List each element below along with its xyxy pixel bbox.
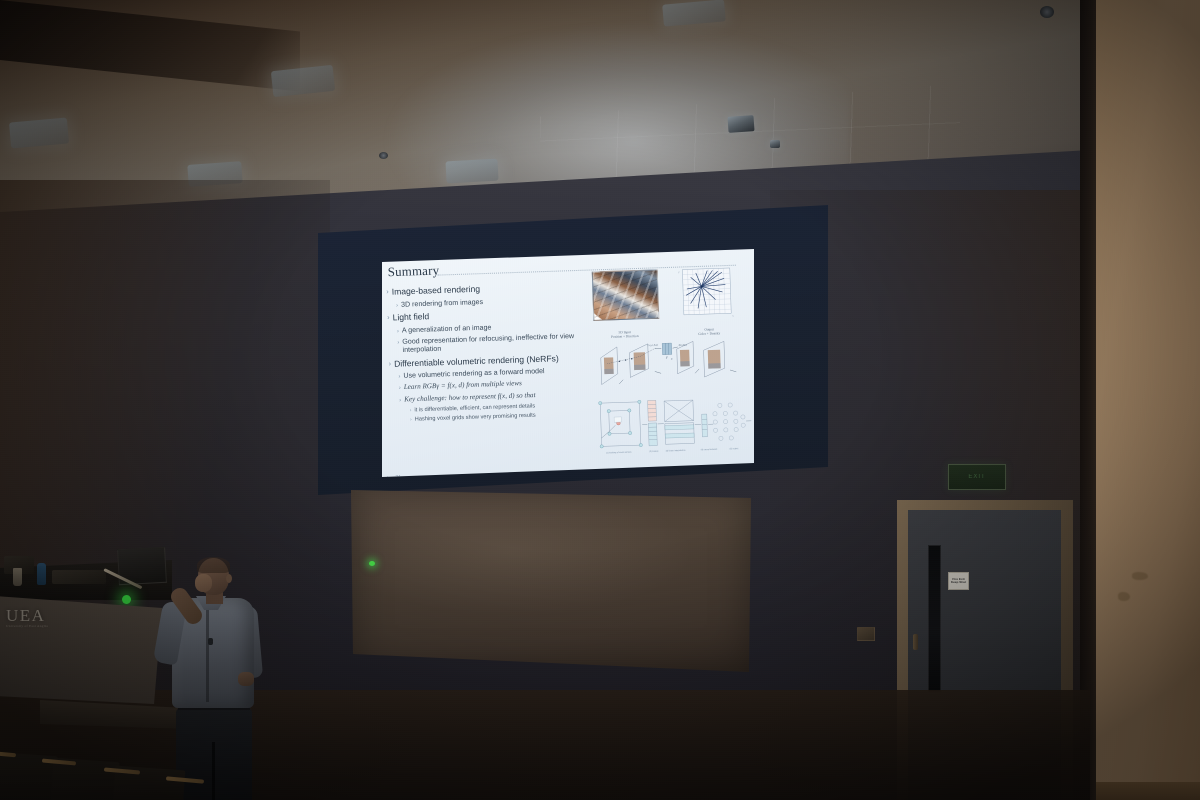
presenter-left-hand <box>195 574 212 592</box>
wall-scuff-2 <box>1118 592 1130 601</box>
bullet-text: Good representation for refocusing, inef… <box>402 332 594 355</box>
presenter-ear <box>226 574 232 583</box>
wall-scuff-1 <box>1132 572 1148 580</box>
instant-ngp-hash-encoding-diagram: (1) hashing of voxel vertices (2) lookup… <box>592 392 754 461</box>
door-sign-line-2: Keep Shut <box>951 581 966 584</box>
bullet-marker-icon: › <box>397 339 399 348</box>
right-wall-pillar <box>1096 0 1200 800</box>
light-field-epipolar-image <box>592 269 660 321</box>
water-bottle <box>37 563 46 585</box>
bullet-marker-icon: › <box>399 396 401 405</box>
bullet-marker-icon: › <box>386 288 389 299</box>
wall-light-switch[interactable] <box>857 627 875 641</box>
svg-text:(4) neural network: (4) neural network <box>701 448 719 452</box>
audience-seating <box>0 744 220 800</box>
bullet-text: Light field <box>392 312 429 323</box>
door-notice-sign: Fire Exit Keep Shut <box>948 572 969 590</box>
door-vision-panel <box>928 545 941 692</box>
bullet-marker-icon: › <box>410 407 412 414</box>
uea-logo-text: UEA <box>6 606 45 625</box>
svg-text:Θ: Θ <box>671 359 673 361</box>
recessed-light-1 <box>9 118 69 149</box>
bullet-item: › Good representation for refocusing, in… <box>397 332 594 355</box>
svg-text:(5) output: (5) output <box>730 447 739 450</box>
bullet-marker-icon: › <box>387 314 390 325</box>
presenter-hair <box>197 557 230 573</box>
bullet-text: Use volumetric rendering as a forward mo… <box>403 368 544 381</box>
bullet-marker-icon: › <box>389 359 392 370</box>
lecture-hall-photo: Summary › Image-based rendering › 3D ren… <box>0 0 1200 800</box>
presenter-shirt-placket <box>206 610 209 702</box>
slide-bullet-list: › Image-based rendering › 3D rendering f… <box>386 278 597 424</box>
ceiling-speaker-right <box>770 140 780 148</box>
svg-text:(RGBσ): (RGBσ) <box>679 344 687 347</box>
av-control-box[interactable] <box>52 570 106 584</box>
door-handle[interactable] <box>913 634 918 650</box>
ceiling-downlight <box>1040 6 1054 18</box>
nerf-pipeline-diagram: 5D Input Position + Direction Output Col… <box>589 322 754 391</box>
svg-text:(x,y,z,θ,φ): (x,y,z,θ,φ) <box>648 344 658 347</box>
emergency-exit-sign: EXIT <box>948 464 1006 490</box>
svg-text:Position + Direction: Position + Direction <box>611 334 639 339</box>
slide-title: Summary <box>387 263 439 280</box>
bullet-marker-icon: › <box>397 327 399 336</box>
lower-whiteboard-panel <box>351 484 751 672</box>
bullet-marker-icon: › <box>410 416 412 423</box>
ceiling-projector <box>727 115 754 133</box>
bullet-marker-icon: › <box>399 384 401 393</box>
uea-logo-subtext: University of East Anglia <box>6 624 66 628</box>
ceiling-smoke-detector <box>379 152 388 159</box>
recessed-light-4 <box>445 159 498 184</box>
bullet-text: Differentiable volumetric rendering (NeR… <box>394 354 559 370</box>
svg-text:F: F <box>665 356 668 360</box>
slide-figure-column: y x 5D Input Position + Direction Output… <box>585 262 754 468</box>
light-field-ray-diagram: y x <box>676 265 737 321</box>
bullet-text: Key challenge: how to represent f(x, d) … <box>404 392 536 405</box>
svg-text:x: x <box>732 315 734 317</box>
svg-text:y: y <box>678 272 680 274</box>
lapel-microphone <box>208 638 213 645</box>
projected-slide: Summary › Image-based rendering › 3D ren… <box>382 249 754 477</box>
exit-sign-text: EXIT <box>968 474 985 480</box>
cup <box>13 568 22 586</box>
svg-text:Color + Density: Color + Density <box>698 331 720 336</box>
bullet-text: A generalization of an image <box>402 324 492 335</box>
bullet-text: Hashing voxel grids show very promising … <box>415 412 536 423</box>
svg-text:(3) linear interpolation: (3) linear interpolation <box>666 449 686 453</box>
presenter-right-hand <box>238 672 254 686</box>
bullet-text: Image-based rendering <box>392 285 481 298</box>
svg-text:(1) hashing of voxel vertices: (1) hashing of voxel vertices <box>606 451 632 455</box>
svg-text:(2) lookup: (2) lookup <box>649 451 659 453</box>
uea-logo: UEA University of East Anglia <box>6 606 66 636</box>
pillar-base <box>1096 782 1200 800</box>
bullet-marker-icon: › <box>396 301 398 310</box>
lectern-status-led <box>122 595 131 604</box>
laser-pointer-dot <box>369 561 375 566</box>
bullet-text: Learn RGBγ = f(x, d) from multiple views <box>404 380 522 392</box>
bullet-marker-icon: › <box>398 372 400 381</box>
bullet-text: 3D rendering from images <box>401 298 483 309</box>
